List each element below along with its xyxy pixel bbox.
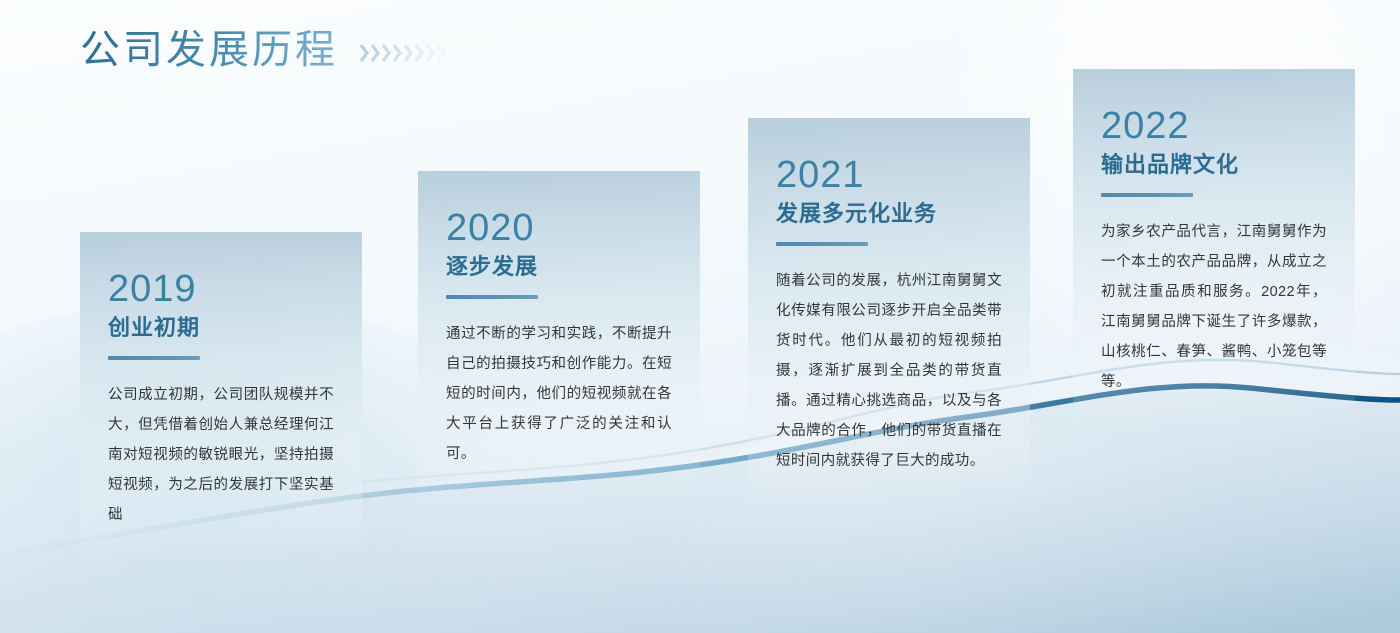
- milestone-body: 随着公司的发展，杭州江南舅舅文化传媒有限公司逐步开启全品类带货时代。他们从最初的…: [776, 266, 1002, 476]
- chevron-right-icon: [382, 44, 391, 62]
- milestone-body: 公司成立初期，公司团队规模并不大，但凭借着创始人兼总经理何江南对短视频的敏锐眼光…: [108, 380, 334, 530]
- milestone-subtitle: 逐步发展: [446, 253, 672, 282]
- milestone-subtitle: 创业初期: [108, 314, 334, 343]
- milestone-year: 2020: [446, 209, 672, 249]
- milestone-subtitle: 输出品牌文化: [1101, 151, 1327, 180]
- chevron-right-icon: [393, 44, 402, 62]
- milestone-card-2020[interactable]: 2020 逐步发展 通过不断的学习和实践，不断提升自己的拍摄技巧和创作能力。在短…: [418, 171, 700, 499]
- milestone-accent-rule: [446, 295, 538, 299]
- milestone-accent-rule: [776, 242, 868, 246]
- milestone-accent-rule: [1101, 193, 1193, 197]
- timeline-infographic: 公司发展历程 2019 创业初期 公司成立初期，公司团队规模并不大，但凭借着创始…: [0, 0, 1400, 633]
- milestone-subtitle: 发展多元化业务: [776, 200, 1002, 229]
- page-title: 公司发展历程: [80, 30, 446, 70]
- chevron-right-icon: [360, 44, 369, 62]
- milestone-year: 2021: [776, 156, 1002, 196]
- milestone-card-2022[interactable]: 2022 输出品牌文化 为家乡农产品代言，江南舅舅作为一个本土的农产品品牌，从成…: [1073, 69, 1355, 427]
- chevron-right-icon: [371, 44, 380, 62]
- milestone-body: 通过不断的学习和实践，不断提升自己的拍摄技巧和创作能力。在短短的时间内，他们的短…: [446, 319, 672, 469]
- chevron-right-icon: [415, 44, 424, 62]
- milestone-card-2019[interactable]: 2019 创业初期 公司成立初期，公司团队规模并不大，但凭借着创始人兼总经理何江…: [80, 232, 362, 560]
- milestone-card-2021[interactable]: 2021 发展多元化业务 随着公司的发展，杭州江南舅舅文化传媒有限公司逐步开启全…: [748, 118, 1030, 506]
- milestone-accent-rule: [108, 356, 200, 360]
- milestone-year: 2019: [108, 270, 334, 310]
- chevron-right-icon: [404, 44, 413, 62]
- milestone-year: 2022: [1101, 107, 1327, 147]
- chevron-right-icon: [437, 44, 446, 62]
- chevron-arrows: [360, 44, 446, 62]
- milestone-body: 为家乡农产品代言，江南舅舅作为一个本土的农产品品牌，从成立之初就注重品质和服务。…: [1101, 217, 1327, 397]
- page-title-text: 公司发展历程: [80, 30, 338, 70]
- chevron-right-icon: [426, 44, 435, 62]
